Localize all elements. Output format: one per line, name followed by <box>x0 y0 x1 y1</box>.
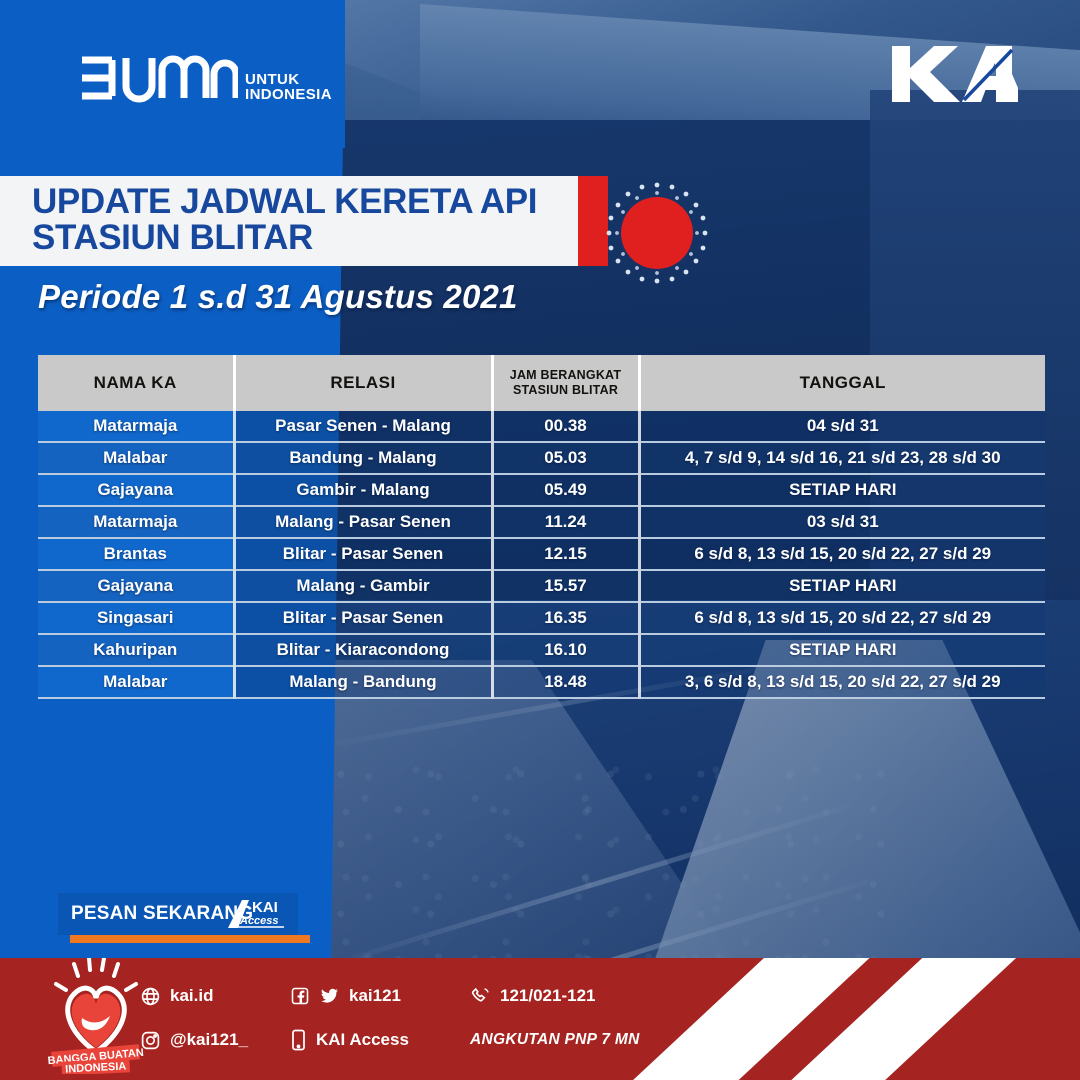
instagram-icon <box>140 1030 161 1051</box>
contact-app[interactable]: KAI Access <box>290 1029 470 1051</box>
contact-phone-text: 121/021-121 <box>500 986 595 1006</box>
cell-tanggal: SETIAP HARI <box>639 474 1045 506</box>
cta-button[interactable]: PESAN SEKARANG KAI Access <box>58 893 298 935</box>
cell-nama-ka: Malabar <box>38 666 234 698</box>
contact-website[interactable]: kai.id <box>140 986 290 1007</box>
cell-tanggal: 03 s/d 31 <box>639 506 1045 538</box>
red-circle-decoration <box>602 178 712 293</box>
cell-tanggal: SETIAP HARI <box>639 570 1045 602</box>
pesan-sekarang-cta[interactable]: PESAN SEKARANG KAI Access <box>58 893 298 935</box>
cell-relasi: Blitar - Kiaracondong <box>234 634 492 666</box>
facebook-icon <box>290 986 310 1006</box>
cell-jam: 00.38 <box>492 411 639 442</box>
cell-relasi: Malang - Bandung <box>234 666 492 698</box>
table-body: Matarmaja Pasar Senen - Malang 00.38 04 … <box>38 411 1045 698</box>
table-row: Brantas Blitar - Pasar Senen 12.15 6 s/d… <box>38 538 1045 570</box>
cell-nama-ka: Matarmaja <box>38 506 234 538</box>
period-subtitle: Periode 1 s.d 31 Agustus 2021 <box>38 278 518 316</box>
red-dotted-circle-icon <box>602 178 712 288</box>
bumn-tagline: UNTUK INDONESIA <box>245 72 332 104</box>
cell-relasi: Gambir - Malang <box>234 474 492 506</box>
schedule-table-wrapper: NAMA KA RELASI JAM BERANGKAT STASIUN BLI… <box>38 355 1045 699</box>
column-header-relasi: RELASI <box>234 355 492 411</box>
bangga-buatan-indonesia-logo: BANGGA BUATAN INDONESIA <box>48 958 144 1079</box>
table-row: Singasari Blitar - Pasar Senen 16.35 6 s… <box>38 602 1045 634</box>
cell-nama-ka: Kahuripan <box>38 634 234 666</box>
contact-instagram[interactable]: @kai121_ <box>140 1030 290 1051</box>
cell-tanggal: 6 s/d 8, 13 s/d 15, 20 s/d 22, 27 s/d 29 <box>639 538 1045 570</box>
contact-phone[interactable]: 121/021-121 <box>470 986 700 1007</box>
page-title: UPDATE JADWAL KERETA API STASIUN BLITAR <box>32 184 592 256</box>
cell-jam: 05.49 <box>492 474 639 506</box>
pride-logo-line2: INDONESIA <box>65 1060 127 1074</box>
contact-app-text: KAI Access <box>316 1030 409 1050</box>
table-header-row: NAMA KA RELASI JAM BERANGKAT STASIUN BLI… <box>38 355 1045 411</box>
schedule-table: NAMA KA RELASI JAM BERANGKAT STASIUN BLI… <box>38 355 1045 699</box>
cell-tanggal: 04 s/d 31 <box>639 411 1045 442</box>
column-header-nama-ka: NAMA KA <box>38 355 234 411</box>
kai-logo <box>890 42 1018 111</box>
heart-logo-icon: BANGGA BUATAN INDONESIA <box>48 958 144 1074</box>
cell-nama-ka: Gajayana <box>38 474 234 506</box>
bumn-logo: UNTUK INDONESIA <box>78 52 332 104</box>
column-header-tanggal: TANGGAL <box>639 355 1045 411</box>
column-header-jam-berangkat: JAM BERANGKAT STASIUN BLITAR <box>492 355 639 411</box>
cell-relasi: Blitar - Pasar Senen <box>234 602 492 634</box>
cell-nama-ka: Brantas <box>38 538 234 570</box>
kai-access-logo: KAI Access <box>226 898 288 935</box>
cell-relasi: Malang - Gambir <box>234 570 492 602</box>
table-row: Malabar Malang - Bandung 18.48 3, 6 s/d … <box>38 666 1045 698</box>
cell-jam: 11.24 <box>492 506 639 538</box>
cell-jam: 16.10 <box>492 634 639 666</box>
table-row: Matarmaja Malang - Pasar Senen 11.24 03 … <box>38 506 1045 538</box>
poster-canvas: UNTUK INDONESIA UPDATE JADWAL KERETA API… <box>0 0 1080 1080</box>
svg-text:Access: Access <box>239 915 279 927</box>
contact-website-text: kai.id <box>170 986 213 1006</box>
cell-jam: 16.35 <box>492 602 639 634</box>
globe-icon <box>140 986 161 1007</box>
table-row: Kahuripan Blitar - Kiaracondong 16.10 SE… <box>38 634 1045 666</box>
kai-access-logo-mark: KAI Access <box>226 898 288 930</box>
cell-relasi: Bandung - Malang <box>234 442 492 474</box>
contact-social-text: kai121 <box>349 986 401 1006</box>
table-header: NAMA KA RELASI JAM BERANGKAT STASIUN BLI… <box>38 355 1045 411</box>
table-row: Gajayana Gambir - Malang 05.49 SETIAP HA… <box>38 474 1045 506</box>
cell-tanggal: SETIAP HARI <box>639 634 1045 666</box>
column-header-jam-line1: JAM BERANGKAT <box>494 368 638 383</box>
page-title-line1: UPDATE JADWAL KERETA API <box>32 184 592 220</box>
column-header-jam-line2: STASIUN BLITAR <box>494 383 638 398</box>
table-row: Gajayana Malang - Gambir 15.57 SETIAP HA… <box>38 570 1045 602</box>
cell-nama-ka: Singasari <box>38 602 234 634</box>
cell-jam: 12.15 <box>492 538 639 570</box>
cell-relasi: Malang - Pasar Senen <box>234 506 492 538</box>
cell-nama-ka: Gajayana <box>38 570 234 602</box>
footer-contacts: kai.id kai121 <box>140 974 700 1062</box>
footer-bar: BANGGA BUATAN INDONESIA kai.id <box>0 958 1080 1080</box>
table-row: Malabar Bandung - Malang 05.03 4, 7 s/d … <box>38 442 1045 474</box>
contact-social[interactable]: kai121 <box>290 986 470 1006</box>
table-row: Matarmaja Pasar Senen - Malang 00.38 04 … <box>38 411 1045 442</box>
cell-jam: 15.57 <box>492 570 639 602</box>
cell-nama-ka: Matarmaja <box>38 411 234 442</box>
svg-text:KAI: KAI <box>252 899 278 916</box>
bumn-tagline-line1: UNTUK <box>245 72 332 87</box>
page-title-line2: STASIUN BLITAR <box>32 220 592 256</box>
kai-logo-mark <box>890 42 1018 106</box>
bumn-tagline-line2: INDONESIA <box>245 87 332 102</box>
twitter-icon <box>319 986 340 1006</box>
cta-orange-bar <box>70 935 310 943</box>
cell-relasi: Pasar Senen - Malang <box>234 411 492 442</box>
cell-jam: 05.03 <box>492 442 639 474</box>
cell-tanggal: 4, 7 s/d 9, 14 s/d 16, 21 s/d 23, 28 s/d… <box>639 442 1045 474</box>
bumn-logo-mark <box>78 52 238 104</box>
cell-tanggal: 6 s/d 8, 13 s/d 15, 20 s/d 22, 27 s/d 29 <box>639 602 1045 634</box>
contact-note-text: ANGKUTAN PNP 7 MN <box>470 1031 640 1049</box>
cell-jam: 18.48 <box>492 666 639 698</box>
mobile-icon <box>290 1029 307 1051</box>
cell-relasi: Blitar - Pasar Senen <box>234 538 492 570</box>
contact-instagram-text: @kai121_ <box>170 1030 248 1050</box>
cell-tanggal: 3, 6 s/d 8, 13 s/d 15, 20 s/d 22, 27 s/d… <box>639 666 1045 698</box>
contact-note: ANGKUTAN PNP 7 MN <box>470 1031 700 1049</box>
cell-nama-ka: Malabar <box>38 442 234 474</box>
phone-icon <box>470 986 491 1007</box>
